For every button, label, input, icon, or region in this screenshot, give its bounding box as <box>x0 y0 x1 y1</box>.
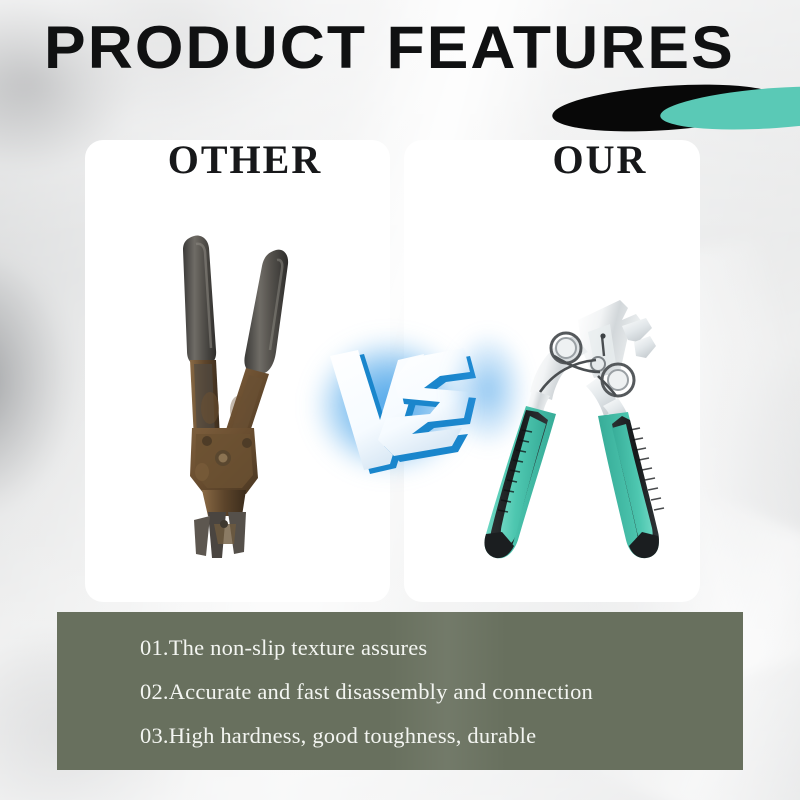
features-panel: 01.The non-slip texture assures 02.Accur… <box>57 612 743 770</box>
feature-item: 01.The non-slip texture assures <box>140 626 727 670</box>
card-label-our: OUR <box>505 136 695 183</box>
product-image-other <box>150 232 320 562</box>
feature-item: 03.High hardness, good toughness, durabl… <box>140 714 727 758</box>
page-title: PRODUCT FEATURES <box>44 18 800 78</box>
feature-item: 02.Accurate and fast disassembly and con… <box>140 670 727 714</box>
card-label-other: OTHER <box>140 136 350 183</box>
features-list: 01.The non-slip texture assures 02.Accur… <box>140 626 727 758</box>
product-feature-poster: PRODUCT FEATURES OTHER OUR <box>0 0 800 800</box>
product-image-our <box>470 280 695 565</box>
